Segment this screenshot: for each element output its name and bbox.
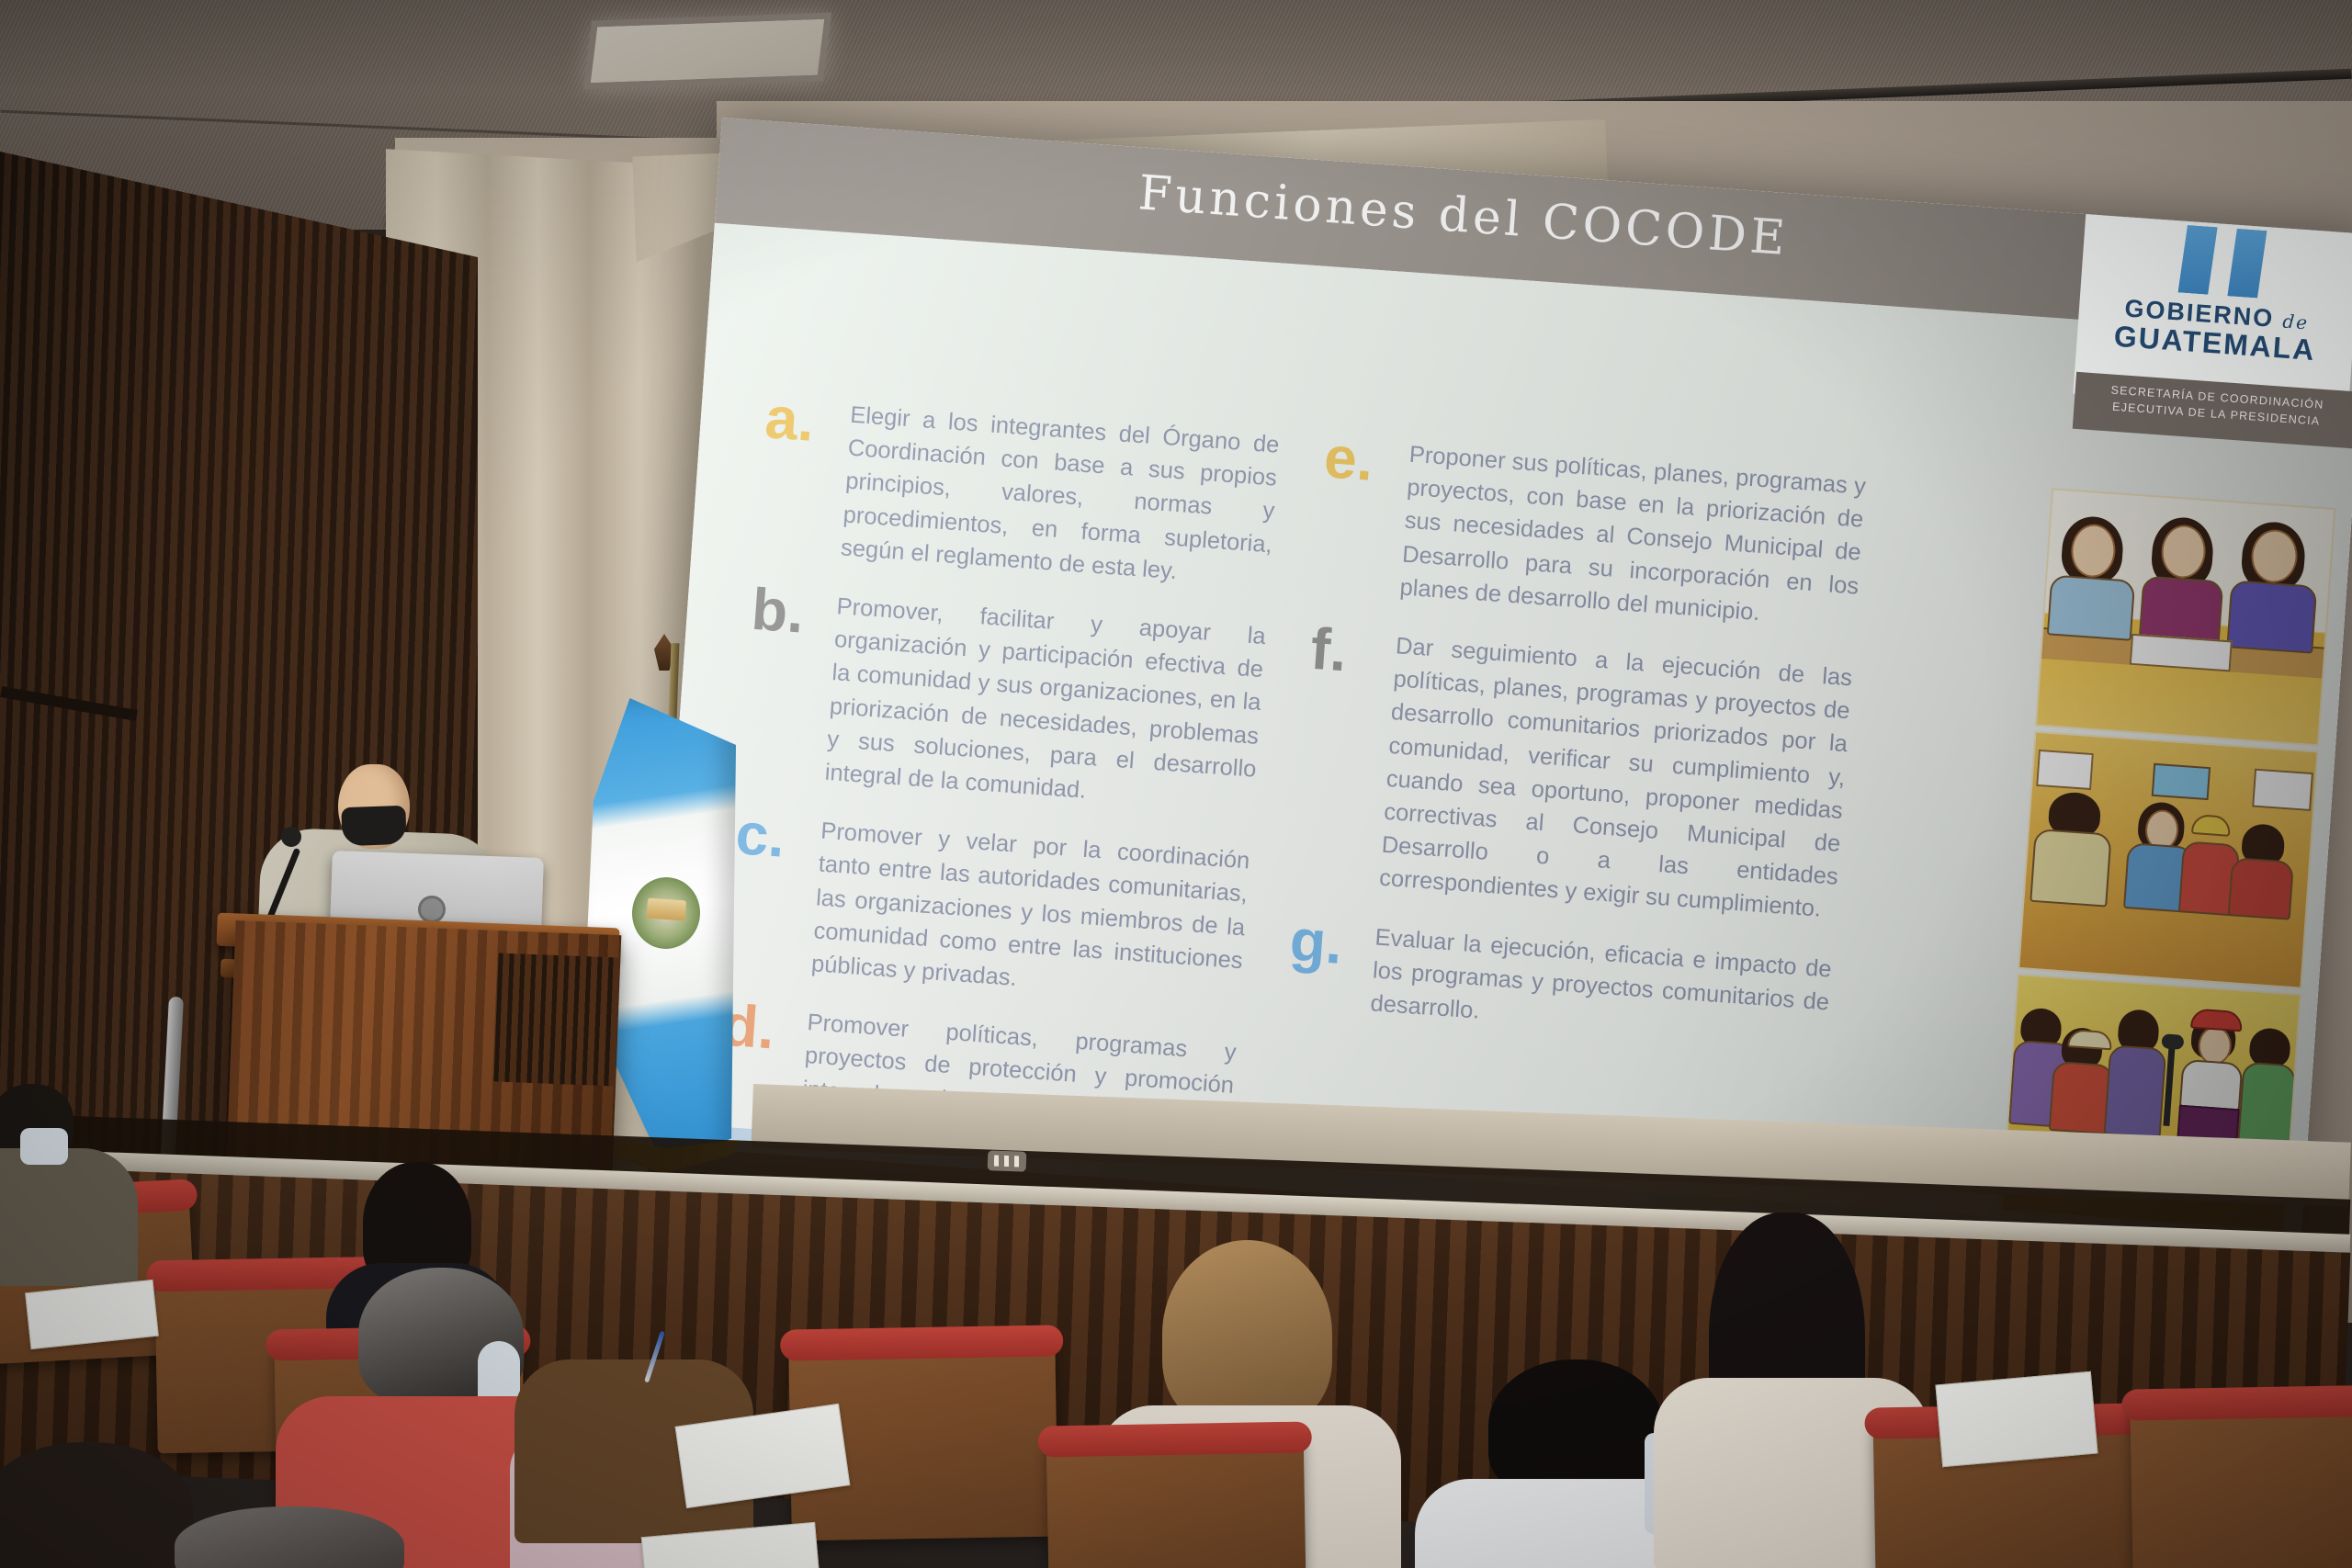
function-item-a: a. Elegir a los integrantes del Órgano d…: [755, 392, 1280, 594]
podium-side-grille: [493, 953, 619, 1087]
microphone-icon: [281, 827, 301, 847]
item-letter-c: c.: [733, 799, 786, 871]
function-item-e: e. Proponer sus políticas, planes, progr…: [1315, 432, 1867, 636]
illustration-panel-assembly: [2018, 731, 2319, 989]
function-item-g: g. Evaluar la ejecución, eficacia e impa…: [1285, 915, 1833, 1053]
auditorium-seat[interactable]: [2130, 1393, 2352, 1568]
item-letter-e: e.: [1322, 423, 1375, 494]
notepad: [1935, 1371, 2098, 1467]
illustration-panel-board-women: [2035, 488, 2336, 746]
logo-bars-icon: [2173, 224, 2278, 299]
face-mask-icon: [341, 806, 406, 846]
slide-illustration-strip: [2000, 488, 2335, 1232]
item-text-c: Promover y velar por la coordinación tan…: [810, 815, 1251, 1011]
ceiling-light-panel: [583, 12, 832, 89]
slide-column-right: e. Proponer sus políticas, planes, progr…: [1283, 432, 1867, 1077]
item-text-a: Elegir a los integrantes del Órgano de C…: [840, 399, 1281, 595]
slide-column-left: a. Elegir a los integrantes del Órgano d…: [713, 392, 1281, 1195]
item-letter-b: b.: [750, 575, 807, 647]
function-item-b: b. Promover, facilitar y apoyar la organ…: [740, 584, 1267, 819]
item-letter-f: f.: [1308, 615, 1349, 685]
function-item-c: c. Promover y velar por la coordinación …: [726, 808, 1250, 1010]
item-letter-g: g.: [1288, 906, 1345, 977]
item-letter-a: a.: [763, 383, 816, 455]
wall-outlet-icon: [988, 1150, 1027, 1171]
auditorium-presentation-scene: Funciones del COCODE GOBIERNO de GUATEMA…: [0, 0, 2352, 1568]
item-text-e: Proponer sus políticas, planes, programa…: [1398, 438, 1867, 637]
logo-connector-text: de: [2282, 310, 2310, 334]
item-text-b: Promover, facilitar y apoyar la organiza…: [824, 590, 1267, 819]
function-item-f: f. Dar seguimiento a la ejecución de las…: [1294, 624, 1853, 928]
auditorium-seat[interactable]: [1046, 1431, 1306, 1568]
item-text-f: Dar seguimiento a la ejecución de las po…: [1378, 629, 1853, 927]
item-text-g: Evaluar la ejecución, eficacia e impacto…: [1369, 920, 1832, 1053]
